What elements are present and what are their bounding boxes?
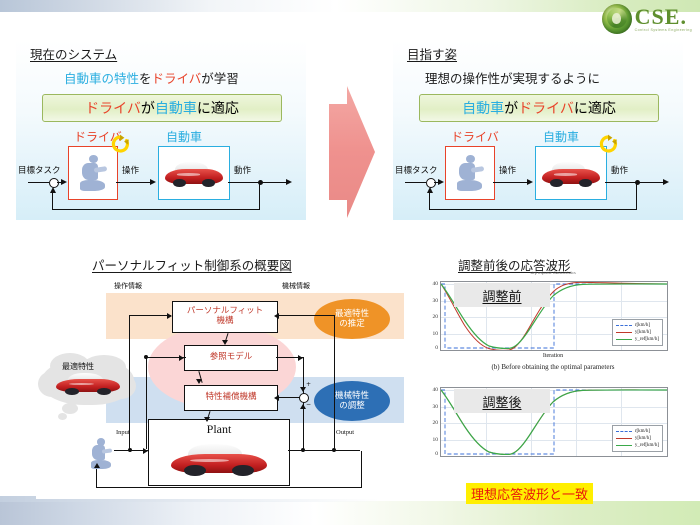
- legend-row: y_ref[km/h]: [616, 336, 659, 343]
- subtitle-part-0: 自動車の特性: [64, 71, 139, 86]
- personal-fit-overview: パーソナルフィット制御系の概要図 操作情報 機械情報 パーソナルフィット 機構 …: [14, 255, 404, 505]
- arrowhead-global-feedback: [94, 463, 100, 468]
- legend-label-yref: y_ref[km/h]: [635, 337, 659, 342]
- arrowhead-car-in: [150, 179, 156, 185]
- chart-before-legend: r[km/h] y[km/h] y_ref[km/h]: [612, 319, 663, 346]
- bubble-car-icon: [56, 369, 120, 397]
- chart-after-ytick-0: 0: [435, 451, 438, 457]
- block-reference-model-label: 参照モデル: [210, 353, 253, 363]
- wire-sum-to-comp: [278, 397, 300, 398]
- driver-person-icon-r: [454, 153, 486, 193]
- wire-r-feedback-down: [636, 182, 637, 210]
- current-system-heading: 現在のシステム: [30, 44, 117, 63]
- cse-logo-wordmark: CSE.: [635, 6, 692, 28]
- block-reference-model: 参照モデル: [184, 345, 278, 371]
- diagram-output-label: 動作: [234, 164, 251, 176]
- chart-after-stamp: 調整後: [454, 389, 550, 413]
- node-ref-in: [144, 355, 148, 359]
- chart-before-ytick-10: 10: [433, 331, 439, 337]
- wire-plant-out: [288, 450, 360, 451]
- legend-row: r[km/h]: [616, 428, 659, 435]
- cse-logo-emblem-icon: [602, 4, 632, 34]
- legend-label-r-2: r[km/h]: [635, 429, 650, 434]
- cse-logo-text: CSE. Control Systems Engineering: [635, 6, 692, 33]
- banner-r-part-2: ドライバ: [518, 98, 574, 118]
- diagram-r-mid-label: 操作: [499, 164, 516, 176]
- ellipse-mechanical-tuning: 機械特性 の調整: [314, 381, 390, 421]
- diagram-r-output-label: 動作: [611, 164, 628, 176]
- diagram-r-input-label: 目標タスク: [395, 164, 438, 176]
- legend-swatch-yref: [616, 339, 632, 340]
- wire-r-driver-to-car: [493, 182, 528, 183]
- legend-row: y[km/h]: [616, 435, 659, 442]
- subtitle-part-1: を: [139, 71, 152, 86]
- block-compensator: 特性補償機構: [184, 385, 278, 411]
- legend-swatch-y-2: [616, 438, 632, 439]
- block-personal-fit-mechanism: パーソナルフィット 機構: [172, 301, 278, 333]
- chart-before-stamp: 調整前: [454, 283, 550, 307]
- chart-before-ytick-30: 30: [433, 298, 439, 304]
- arrowhead-ref-to-comp: [196, 379, 202, 384]
- label-machine-info: 機械情報: [282, 281, 310, 291]
- cse-logo: CSE. Control Systems Engineering: [602, 4, 692, 34]
- banner-r-part-0: 自動車: [462, 98, 504, 118]
- diagram-car-title: 自動車: [166, 128, 202, 145]
- chart-before-caption: (b) Before obtaining the optimal paramet…: [418, 363, 688, 371]
- wire-global-feedback-down: [361, 451, 362, 488]
- banner-part-0: ドライバ: [85, 98, 141, 118]
- wire-global-feedback: [96, 487, 362, 488]
- arrowhead-comp-in: [274, 395, 279, 401]
- legend-label-yref-2: y_ref[km/h]: [635, 443, 659, 448]
- banner-r-part-1: が: [504, 98, 518, 118]
- cse-logo-tagline: Control Systems Engineering: [635, 29, 692, 33]
- personal-fit-canvas: 操作情報 機械情報 パーソナルフィット 機構 参照モデル 特性補償機構 Plan…: [36, 277, 404, 499]
- chart-after-ytick-10: 10: [433, 437, 439, 443]
- chart-after-legend: r[km/h] y[km/h] y_ref[km/h]: [612, 425, 663, 452]
- chart-after-ytick-40: 40: [433, 387, 439, 393]
- slide-root: CSE. Control Systems Engineering 現在のシステム…: [0, 0, 700, 525]
- chart-after-ytick-20: 20: [433, 420, 439, 426]
- chart-before-ytick-40: 40: [433, 281, 439, 287]
- adaptation-loop-icon: [110, 134, 130, 154]
- wire-feedback-back: [52, 209, 260, 210]
- car-block-r: [535, 146, 607, 200]
- personal-fit-title: パーソナルフィット制御系の概要図: [92, 255, 292, 274]
- arrowhead-pf-to-ref: [222, 340, 228, 345]
- diagram-r-car-title: 自動車: [543, 128, 579, 145]
- driver-block: [68, 146, 118, 200]
- wire-input-up2: [146, 357, 147, 449]
- driver-block-r: [445, 146, 495, 200]
- arrowhead-r-driver-in: [438, 179, 444, 185]
- legend-swatch-y: [616, 332, 632, 333]
- legend-row: y[km/h]: [616, 329, 659, 336]
- legend-label-y: y[km/h]: [635, 330, 651, 335]
- wire-in: [28, 182, 49, 183]
- arrowhead-ref-in: [179, 355, 184, 361]
- panel-target-system: 目指す姿 理想の操作性が実現するように 自動車がドライバに適応 ドライバ 自動車…: [393, 40, 683, 220]
- legend-row: y_ref[km/h]: [616, 442, 659, 449]
- arrowhead-r-car-in: [527, 179, 533, 185]
- legend-label-y-2: y[km/h]: [635, 436, 651, 441]
- label-input: Input: [116, 429, 130, 436]
- diagram-mid-label: 操作: [122, 164, 139, 176]
- target-system-subtitle: 理想の操作性が実現するように: [425, 68, 600, 87]
- wire-feedback-down: [259, 182, 260, 210]
- wire-feedback-up: [52, 192, 53, 210]
- target-system-banner: 自動車がドライバに適応: [419, 94, 659, 122]
- label-output: Output: [336, 429, 354, 436]
- legend-label-r: r[km/h]: [635, 323, 650, 328]
- sign-plus: +: [306, 381, 311, 388]
- ellipse-optimal-label: 最適特性 の推定: [335, 309, 369, 329]
- legend-swatch-r: [616, 325, 632, 326]
- arrowhead-r-out: [663, 179, 669, 185]
- label-operation-info: 操作情報: [114, 281, 142, 291]
- car-icon: [165, 157, 223, 189]
- car-block: [158, 146, 230, 200]
- conclusion-highlight: 理想応答波形と一致: [466, 483, 593, 504]
- wire-global-feedback-up: [96, 469, 97, 488]
- banner-part-1: が: [141, 98, 155, 118]
- banner-part-3: に適応: [197, 98, 239, 118]
- block-compensator-label: 特性補償機構: [205, 393, 256, 403]
- chart-after-wrapper: 40 30 20 10 0 r[km/h] y[km/h] y_ref[km/h…: [418, 383, 688, 478]
- subtitle-part-3: が学習: [201, 71, 239, 86]
- wire-r-feedback-up: [429, 192, 430, 210]
- chart-before-wrapper: step response characteristics 40 30 20 1…: [418, 277, 688, 382]
- block-plant-label: Plant: [207, 423, 232, 437]
- banner-r-part-3: に適応: [574, 98, 616, 118]
- car-icon-r: [542, 157, 600, 189]
- target-system-block-diagram: ドライバ 自動車 目標タスク 操作 動作: [393, 128, 683, 218]
- top-decoration-band: [0, 0, 700, 12]
- chart-before-ytick-20: 20: [433, 314, 439, 320]
- wire-input-up: [129, 315, 130, 449]
- plant-car-icon: [171, 436, 267, 478]
- wire-to-pf-right: [278, 315, 335, 316]
- current-system-subtitle: 自動車の特性をドライバが学習: [64, 68, 239, 87]
- subtitle-part-2: ドライバ: [152, 71, 202, 86]
- current-system-block-diagram: ドライバ 自動車 目標タスク 操作 動作: [16, 128, 306, 218]
- bubble-label: 最適特性: [62, 361, 94, 372]
- arrowhead-feedback: [50, 187, 56, 193]
- banner-part-2: 自動車: [155, 98, 197, 118]
- wire-driver-to-car: [116, 182, 151, 183]
- wire-to-pf: [129, 315, 171, 316]
- cse-logo-name: CSE.: [635, 4, 687, 29]
- chart-after-ytick-30: 30: [433, 404, 439, 410]
- arrowhead-out: [286, 179, 292, 185]
- diagram-r-driver-title: ドライバ: [451, 128, 499, 145]
- transition-arrow-icon: [315, 86, 383, 218]
- block-personal-fit-label: パーソナルフィット 機構: [187, 307, 263, 327]
- wire-r-feedback-back: [429, 209, 637, 210]
- chart-before-ytick-0: 0: [435, 345, 438, 351]
- target-system-heading: 目指す姿: [407, 44, 457, 63]
- legend-swatch-r-2: [616, 431, 632, 432]
- current-system-banner: ドライバが自動車に適応: [42, 94, 282, 122]
- arrowhead-comp-to-plant: [204, 417, 210, 422]
- adaptation-loop-icon-r: [598, 134, 618, 154]
- chart-before-plot-title: step response characteristics: [418, 270, 688, 275]
- ellipse-optimal-estimation: 最適特性 の推定: [314, 299, 390, 339]
- arrowhead-r-feedback: [427, 187, 433, 193]
- arrowhead-pf-in-left: [167, 313, 172, 319]
- arrowhead-driver-in: [61, 179, 67, 185]
- driver-person-icon-small: [88, 437, 114, 471]
- legend-swatch-yref-2: [616, 445, 632, 446]
- response-waveform-section: 調整前後の応答波形 step response characteristics …: [410, 255, 696, 505]
- driver-person-icon: [77, 153, 109, 193]
- legend-row: r[km/h]: [616, 322, 659, 329]
- chart-before-xlabel: Iteration: [418, 353, 688, 359]
- wire-r-in: [405, 182, 426, 183]
- arrowhead-pf-in-right: [274, 313, 279, 319]
- sign-minus: −: [306, 401, 311, 408]
- wire-out-up-far: [334, 315, 335, 450]
- diagram-input-label: 目標タスク: [18, 164, 61, 176]
- arrowhead-sum-plus: [298, 355, 303, 361]
- ellipse-mechanical-label: 機械特性 の調整: [335, 391, 369, 411]
- block-plant: Plant: [148, 419, 290, 486]
- panel-current-system: 現在のシステム 自動車の特性をドライバが学習 ドライバが自動車に適応 ドライバ …: [16, 40, 306, 220]
